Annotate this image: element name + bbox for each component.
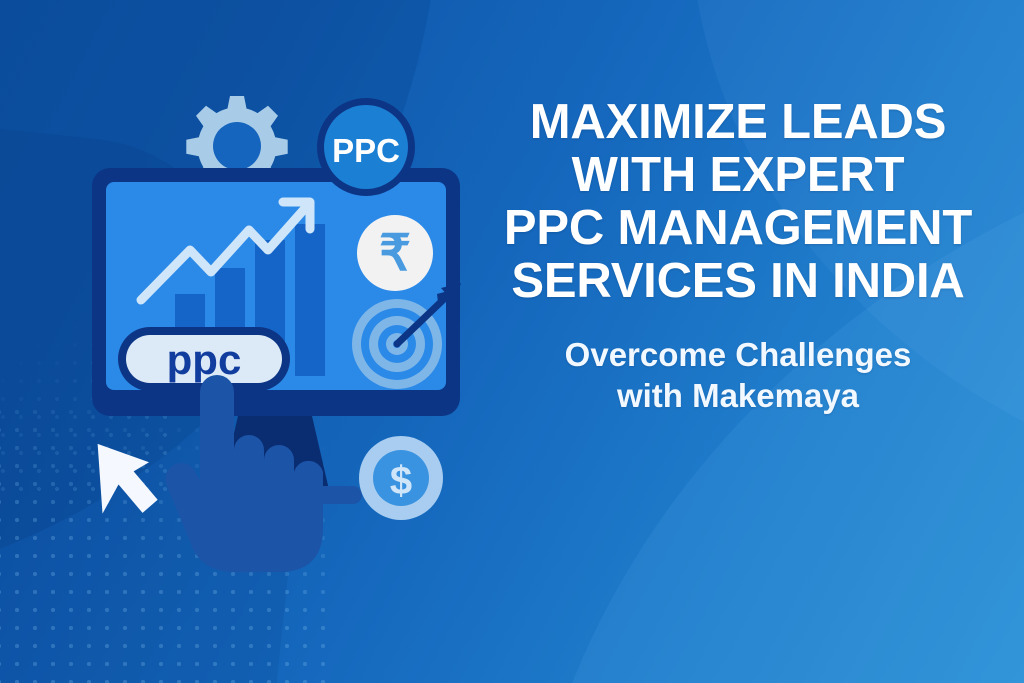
dollar-coin-icon: $ — [359, 436, 443, 520]
svg-text:PPC: PPC — [332, 132, 400, 169]
headline-line-2: WITH EXPERT — [492, 149, 984, 202]
headline-line-1: MAXIMIZE LEADS — [492, 96, 984, 149]
headline-line-3: PPC MANAGEMENT — [492, 202, 984, 255]
cursor-arrow-icon — [98, 440, 159, 516]
subtitle: Overcome Challenges with Makemaya — [492, 334, 984, 416]
subtitle-line-2: with Makemaya — [492, 375, 984, 416]
page-title: MAXIMIZE LEADS WITH EXPERT PPC MANAGEMEN… — [492, 96, 984, 308]
chart-bar — [295, 224, 325, 376]
svg-text:ppc: ppc — [167, 336, 242, 383]
rupee-coin-icon: ₹ — [357, 215, 433, 291]
promo-banner: ₹ ppc — [0, 0, 1024, 683]
ppc-badge[interactable]: PPC — [317, 98, 415, 196]
svg-text:$: $ — [390, 459, 412, 503]
headline-line-4: SERVICES IN INDIA — [492, 255, 984, 308]
ppc-illustration: ₹ ppc — [0, 0, 512, 683]
subtitle-line-1: Overcome Challenges — [492, 334, 984, 375]
copy-block: MAXIMIZE LEADS WITH EXPERT PPC MANAGEMEN… — [492, 96, 984, 416]
svg-text:₹: ₹ — [379, 225, 411, 281]
